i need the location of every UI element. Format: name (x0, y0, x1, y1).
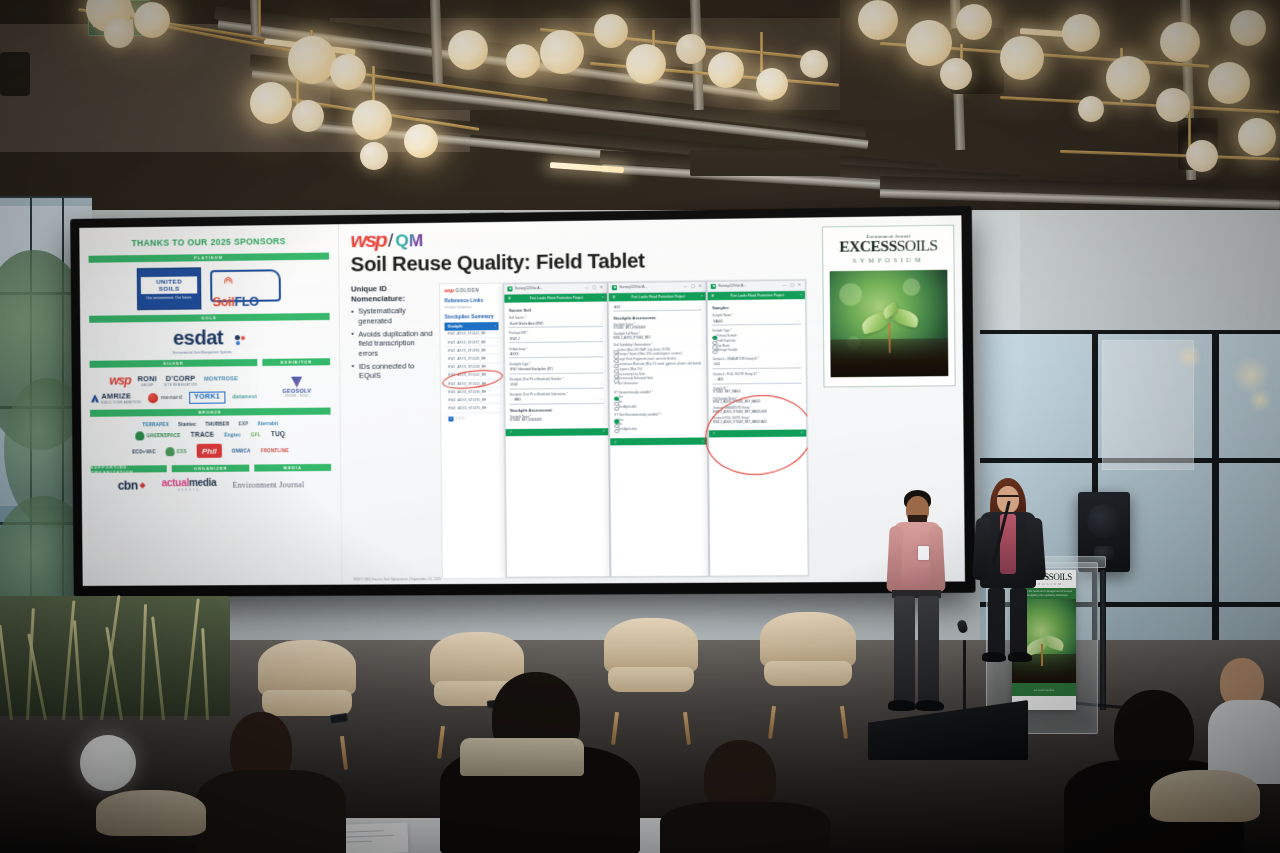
search-icon: ⌕ (511, 398, 513, 402)
slide-main-column: wsp / QM Soil Reuse Quality: Field Table… (339, 217, 818, 584)
close-icon[interactable]: ✕ (711, 294, 714, 298)
logo-montrose: MONTROSE (204, 376, 238, 382)
field-tablet-screenshot: wsp GOLDEN Reference Links Stockpile Com… (439, 278, 810, 579)
table-row[interactable]: EW2_AXXX_ST0191_BH (446, 404, 500, 413)
form-footer: ✓ ✓ (611, 438, 708, 446)
audience-member-1 (196, 712, 346, 853)
stage-chair-4 (760, 612, 856, 710)
radio-option[interactable]: Not Applicable (615, 427, 704, 433)
audience-chair-left (96, 790, 206, 853)
logo-united-soils: UNITED SOILS Our environment. Our future… (137, 267, 202, 310)
readout-stockpile-name: Stockpile Name * ST0162_BS7_0916140S (614, 322, 703, 330)
field-soil-source[interactable]: Soil Source * Earth Works Area (EW)⌄ (509, 315, 603, 328)
soil-suitability-group: Soil Suitability Observations * Debris (… (614, 342, 703, 387)
page-title: Soil Reuse Quality: Field Tablet (351, 248, 807, 277)
stockpiles-side-pane: wsp GOLDEN Reference Links Stockpile Com… (440, 283, 506, 578)
conference-photo: THANKS TO OUR 2025 SPONSORS PLATINUM UNI… (0, 0, 1280, 853)
close-icon[interactable]: ✕ (508, 297, 511, 301)
form-footer: ✓ ✓ (506, 428, 608, 436)
logo-tuq: TUQ (271, 431, 286, 438)
field-stockpile-number[interactable]: Stockpile (Test Pit or Borehole) Number … (510, 376, 604, 389)
question-geoenv-suitable: ST Geo Environmentally suitable? * Yes N… (614, 412, 703, 432)
wsp-wordmark: wsp (350, 233, 386, 250)
band-media: MEDIA (254, 464, 331, 472)
logo-exp: EXP (238, 421, 248, 426)
field-top-value[interactable]: BS7◌ ⌄ (613, 304, 702, 312)
window-controls[interactable]: — ▢ ✕ (585, 286, 604, 290)
form-body: Source Soil Soil Source * Earth Works Ar… (505, 302, 609, 429)
logo-greenspace: GREENSPACE (136, 431, 181, 440)
window-controls[interactable]: — ▢ ✕ (783, 283, 802, 287)
menu-icon[interactable]: ≡ (602, 296, 604, 300)
field-sample-name[interactable]: Sample Name * SA001◌ ⌄ (712, 313, 801, 326)
bullet-heading: Unique ID Nomenclature: (351, 283, 432, 304)
logo-thurber: THURBER (205, 422, 229, 427)
sample-type-group: Sample Type * Primary Sample Field Dupli… (713, 328, 802, 353)
readout-stockpile-full-name: Stockpile Full Name * EW2 2_AXXX_ST0162_… (614, 332, 703, 340)
logo-ecovac: ECO+VAC (132, 449, 156, 454)
form-footer: ✓ ✓ (709, 429, 806, 437)
logo-datanest: datanest (232, 394, 257, 400)
presenter-standing (878, 490, 948, 730)
speaker-stand-pole (1100, 570, 1106, 710)
field-subpackage[interactable]: Subpackage * AXXX◌ ⌄ ◌ (509, 346, 603, 359)
reference-links-heading[interactable]: Reference Links (445, 299, 499, 305)
list-item: Systematically generated (351, 306, 432, 326)
reference-links-sub[interactable]: Stockpile Comparison (445, 306, 499, 310)
band-organizer: ORGANIZER (172, 465, 249, 473)
logo-gfl: GFL (251, 432, 261, 437)
logo-onwca: ONWCA (232, 448, 251, 453)
logo-esdat: esdat Environmental Data Management Syst… (173, 327, 246, 355)
window-controls[interactable]: — ▢ ✕ (684, 284, 703, 288)
led-presentation-screen: THANKS TO OUR 2025 SPONSORS PLATINUM UNI… (70, 206, 975, 597)
seedling-photo (830, 270, 948, 378)
section-heading-2: Stockpile Assessment (510, 407, 604, 413)
tier-logos-silver-row2: AMRIZE BUILD YOUR AMBITION menard YORK1 … (90, 388, 258, 407)
floor-lamp-sphere (80, 735, 136, 791)
slide-content: THANKS TO OUR 2025 SPONSORS PLATINUM UNI… (79, 215, 965, 586)
survey123-app-icon (711, 284, 716, 289)
sponsor-heading: THANKS TO OUR 2025 SPONSORS (88, 235, 329, 248)
logo-wsp-silver: wsp (109, 373, 130, 387)
logo-york1: YORK1 (189, 391, 225, 403)
tier-band-exhibitor: EXHIBITOR (263, 358, 331, 366)
bullet-column: Unique ID Nomenclature: Systematically g… (351, 283, 435, 579)
survey123-window-1[interactable]: Survey123 for A... — ▢ ✕ ✕ Port Lands Fl… (504, 282, 611, 578)
readout-stockpile-name: Stockpile Name * ST0162_BS7_0916140S (510, 415, 604, 423)
tier-logos-silver-row1: wsp RONI GROUP D'CORP SITE REMEDIATION M… (90, 370, 258, 390)
journal-title: EXCESSSOILS (830, 239, 947, 256)
field-fullsuite-group-id[interactable]: Geotech - FULL SUITE Group ID * ⌕A01◌ ⌄ (713, 371, 802, 384)
section-heading: Source Soil (509, 307, 603, 313)
radio-option[interactable]: Average Sample (713, 348, 802, 354)
qm-wordmark: QM (395, 234, 423, 249)
logo-geosolv: GEOSOLV DESIGN + BUILD (282, 377, 311, 398)
submit-icon[interactable]: ✓ (602, 429, 605, 433)
name-badge (918, 546, 929, 560)
field-stockpile-subsection[interactable]: Stockpile (Test Pit or Borehole) Subsect… (510, 392, 604, 405)
logo-terrapex: TERRAPEX (142, 422, 169, 427)
tier-logos-bronze-row3: ECO+VAC ESS Phil ONWCA FRONTLINE (90, 441, 331, 461)
check-icon[interactable]: ✓ (614, 440, 617, 444)
question-geotech-suitable: ST Geotechnically suitable? * Yes No Not… (614, 389, 703, 409)
audience-chair-center (460, 738, 584, 804)
logo-engtec: Engtec (224, 432, 241, 437)
tier-logos-platinum: UNITED SOILS Our environment. Our future… (89, 264, 330, 313)
tier-band-silver: SILVER (90, 359, 258, 368)
list-item: IDs connected to EQuIS (352, 361, 433, 381)
stockpile-rows: EW2_AXXX_ST0162_BH EW2_AXXX_ST0197_BH EW… (445, 330, 500, 413)
logo-trace: TRACE (191, 432, 215, 439)
logo-ess: ESS (166, 447, 187, 456)
submit-icon[interactable]: ✓ (800, 431, 803, 435)
tier-band-bronze: BRONZE (90, 408, 331, 417)
field-package-ew[interactable]: Package EW * EW2 2◌ ⌄ (509, 330, 603, 343)
readout-gradation-group: Geotech GRADATION Group * EW2 2_AXXX_ST0… (713, 406, 802, 414)
section-heading: Stockpile Assessment (614, 314, 703, 320)
search-icon: ⌕ (714, 378, 716, 382)
readout-sample-id: Sample ID * ST0162_BS7_SA001 (713, 387, 802, 395)
wsp-qm-logo: wsp / QM (350, 227, 806, 250)
logo-amrize: AMRIZE BUILD YOUR AMBITION (91, 391, 141, 405)
logo-roni: RONI GROUP (138, 374, 157, 387)
logo-menard: menard (148, 392, 183, 402)
menu-icon[interactable]: ≡ (701, 294, 703, 298)
logo-actualmedia: actualmedia EVENTS (162, 478, 217, 492)
form-body: BS7◌ ⌄ Stockpile Assessment Stockpile Na… (609, 301, 707, 439)
logo-xterrabit: Xterrabit (257, 421, 278, 426)
check-icon[interactable]: ✓ (509, 430, 512, 434)
wsp-golden-logo: wsp GOLDEN (444, 287, 498, 294)
logo-stantec: Stantec (178, 422, 196, 427)
tier-band-gold: GOLD (89, 313, 330, 323)
menu-icon[interactable]: ≡ (800, 293, 802, 297)
ornamental-grasses (0, 560, 250, 720)
survey123-window-2[interactable]: Survey123 for A... — ▢ ✕ ✕ Port Lands Fl… (608, 281, 710, 577)
logo-phil: Phil (197, 444, 222, 458)
footer-logos: cbn actualmedia EVENTS Environment Journ… (91, 475, 332, 495)
survey123-app-icon (612, 285, 617, 290)
eyeglasses (997, 495, 1019, 500)
survey123-app-icon (508, 286, 513, 291)
logo-cbn: cbn (118, 478, 146, 492)
audience-chair-right (1150, 770, 1260, 853)
journal-card: Environment Journal EXCESSSOILS SYMPOSIU… (822, 225, 955, 388)
submit-icon[interactable]: ✓ (701, 439, 704, 443)
field-gradation-group-id[interactable]: Geotech - GRADATION Group ID * G01◌ ⌄ (713, 356, 802, 369)
logo-environment-journal: Environment Journal (233, 480, 305, 490)
tier-logos-gold: esdat Environmental Data Management Syst… (89, 324, 330, 358)
pagination[interactable]: ‹ 1 2 3 4 › (446, 416, 500, 422)
list-item: Avoids duplication and field transcripti… (351, 329, 433, 359)
radio-option[interactable]: Not Applicable (614, 404, 703, 410)
form-body: Samples Sample Name * SA001◌ ⌄ Sample Ty… (708, 299, 807, 430)
logo-dcorp: D'CORP SITE REMEDIATION (164, 373, 197, 386)
checkbox-option-selected[interactable]: No Observation (614, 381, 703, 387)
audience-member-5 (1208, 658, 1280, 778)
bullet-list: Systematically generated Avoids duplicat… (351, 306, 433, 381)
slide-footer: WSP | QM | Excess Soil Symposium | Septe… (354, 577, 442, 581)
readout-full-sample-name: Full Sample Name * EW2 2_AXXX_ST0162_BS7… (713, 396, 802, 404)
survey123-window-3[interactable]: Survey123 for A... — ▢ ✕ ✕ Port Lands Fl… (707, 279, 809, 576)
tier-band-platinum: PLATINUM (89, 253, 330, 263)
logo-frontline: FRONTLINE (261, 448, 289, 453)
sponsor-panel: THANKS TO OUR 2025 SPONSORS PLATINUM UNI… (79, 224, 342, 586)
band-supporting-organization: SUPPORTING ORGANIZATION (91, 465, 168, 473)
journal-subtitle: SYMPOSIUM (830, 256, 947, 265)
check-icon[interactable]: ✓ (712, 432, 715, 436)
audience-member-3 (660, 740, 830, 853)
close-icon[interactable]: ✕ (612, 295, 615, 299)
field-stockpile-type[interactable]: Stockpile Type * EW / Inherited Stockpil… (509, 361, 603, 374)
section-heading: Samples (712, 305, 801, 311)
logo-soilflo: SoilFLO (208, 267, 281, 308)
stockpiles-summary-heading: Stockpiles Summary (445, 315, 499, 321)
readout-fullsuite-group: Geotech FULL SUITE Group * EW2 2_AXXX_ST… (713, 416, 802, 424)
